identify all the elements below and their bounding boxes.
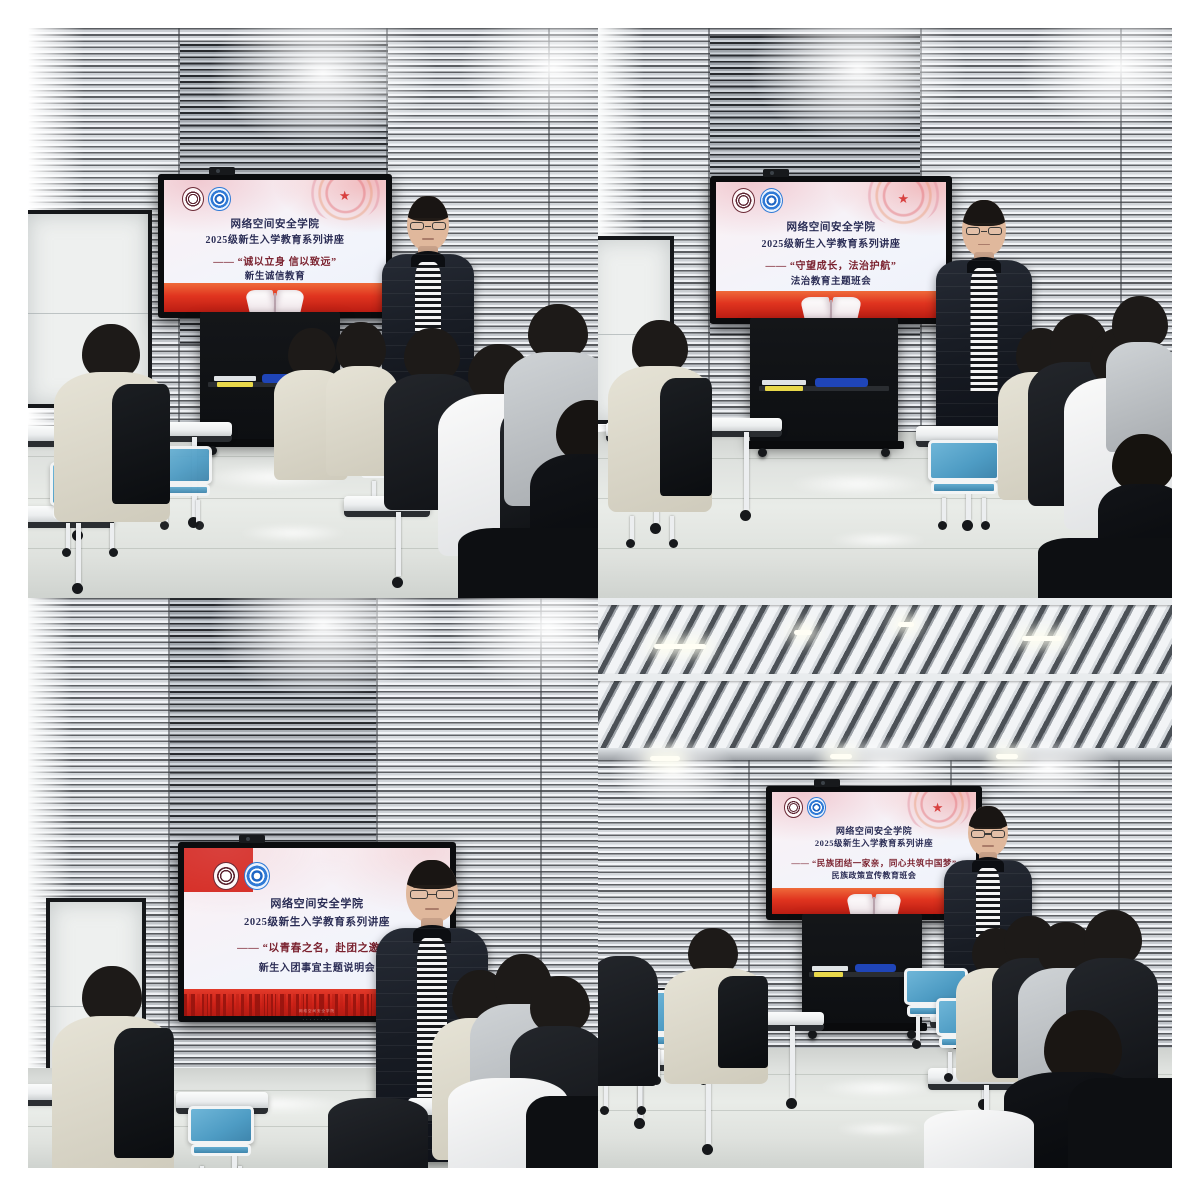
student-seated bbox=[328, 1090, 428, 1168]
display-brand-label: ········ bbox=[302, 1017, 331, 1023]
university-seal-icon bbox=[213, 862, 239, 890]
presentation-slide: ★ 网络空间安全学院 2025级新生入学教育系列讲座 —— “诚以立身 信以致远… bbox=[164, 180, 386, 312]
photo-panel-bottom-right[interactable]: ★ 网络空间安全学院 2025级新生入学教育系列讲座 —— “民族团结一家亲，同… bbox=[598, 598, 1172, 1168]
cabinet-blue-item bbox=[855, 964, 896, 972]
student-seated bbox=[608, 320, 712, 508]
cabinet-papers bbox=[762, 380, 806, 385]
star-icon: ★ bbox=[339, 189, 351, 202]
student-seated bbox=[664, 928, 768, 1078]
ceiling-light bbox=[898, 622, 914, 627]
student-seated bbox=[54, 324, 170, 514]
baffle-ceiling bbox=[598, 598, 1172, 748]
student-seated bbox=[1106, 296, 1172, 446]
ceiling-light bbox=[1022, 636, 1062, 641]
display-camera-icon bbox=[763, 169, 789, 177]
interactive-display[interactable]: ★ 网络空间安全学院 2025级新生入学教育系列讲座 —— “守望成长，法治护航… bbox=[710, 176, 952, 324]
ceiling-light bbox=[654, 644, 706, 649]
photo-panel-top-right[interactable]: ★ 网络空间安全学院 2025级新生入学教育系列讲座 —— “守望成长，法治护航… bbox=[598, 28, 1172, 598]
star-icon: ★ bbox=[898, 192, 910, 205]
photo-panel-top-left[interactable]: ★ 网络空间安全学院 2025级新生入学教育系列讲座 —— “诚以立身 信以致远… bbox=[28, 28, 598, 598]
display-camera-icon bbox=[814, 779, 840, 787]
cabinet-folder bbox=[217, 382, 253, 387]
presenter-head bbox=[962, 200, 1006, 256]
eyeglasses-icon bbox=[971, 830, 1005, 838]
tablet-arm-desk bbox=[706, 418, 782, 432]
slide-logos bbox=[732, 190, 787, 210]
university-seal-icon bbox=[732, 188, 755, 213]
slide-topic-sub: 新生诚信教育 bbox=[164, 268, 386, 282]
cabinet-blue-item bbox=[815, 378, 868, 387]
slide-topic-sub: 法治教育主题班会 bbox=[716, 273, 946, 287]
student-seated bbox=[598, 950, 658, 1090]
open-book-graphic bbox=[802, 297, 860, 318]
display-camera-icon bbox=[209, 167, 235, 175]
slide-series-line: 2025级新生入学教育系列讲座 bbox=[164, 231, 386, 246]
classroom-chair bbox=[928, 440, 1000, 504]
student-seated bbox=[52, 966, 174, 1168]
display-camera-icon bbox=[239, 835, 265, 843]
interactive-display[interactable]: ★ 网络空间安全学院 2025级新生入学教育系列讲座 —— “诚以立身 信以致远… bbox=[158, 174, 392, 318]
presenter-head bbox=[406, 860, 458, 922]
slide-topic-quote: —— “诚以立身 信以致远” bbox=[164, 253, 386, 268]
classroom-chair bbox=[188, 1106, 254, 1166]
eyeglasses-icon bbox=[966, 227, 1003, 235]
student-seated bbox=[924, 1106, 1034, 1168]
ceiling-light bbox=[794, 630, 812, 635]
cabinet-papers bbox=[214, 376, 256, 381]
slide-org-line: 网络空间安全学院 bbox=[164, 216, 386, 231]
slide-topic-quote: —— “守望成长，法治护航” bbox=[716, 257, 946, 272]
school-emblem-icon bbox=[208, 187, 230, 211]
university-seal-icon bbox=[182, 187, 204, 211]
eyeglasses-icon bbox=[410, 890, 454, 899]
slide-logos bbox=[784, 799, 829, 816]
slide-logos bbox=[213, 863, 274, 888]
cabinet-folder bbox=[765, 386, 803, 391]
slide-org-line: 网络空间安全学院 bbox=[716, 219, 946, 234]
eyeglasses-icon bbox=[410, 222, 445, 230]
cabinet-folder bbox=[814, 972, 843, 977]
open-book-graphic bbox=[247, 290, 303, 312]
school-emblem-icon bbox=[760, 188, 783, 213]
slide-logos bbox=[182, 189, 235, 209]
university-seal-icon bbox=[784, 797, 803, 818]
open-book-graphic bbox=[848, 894, 900, 914]
school-emblem-icon bbox=[244, 862, 270, 890]
photo-panel-bottom-left[interactable]: 网络空间安全学院 2025级新生入学教育系列讲座 —— “以青春之名，赴团之邀约… bbox=[28, 598, 598, 1168]
cabinet-papers bbox=[812, 966, 848, 971]
presenter-head bbox=[407, 196, 449, 250]
presenter-head bbox=[968, 806, 1008, 856]
presentation-slide: ★ 网络空间安全学院 2025级新生入学教育系列讲座 —— “守望成长，法治护航… bbox=[716, 182, 946, 318]
slide-series-line: 2025级新生入学教育系列讲座 bbox=[716, 235, 946, 250]
photo-collage: ★ 网络空间安全学院 2025级新生入学教育系列讲座 —— “诚以立身 信以致远… bbox=[0, 0, 1200, 1200]
school-emblem-icon bbox=[807, 797, 826, 818]
